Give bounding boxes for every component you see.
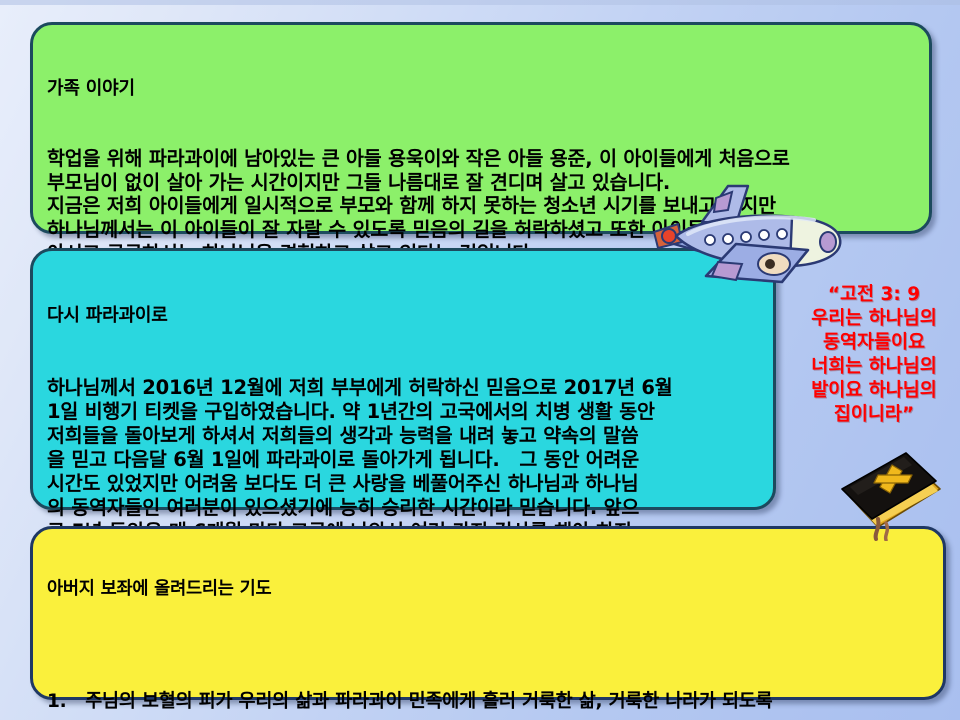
prayer-requests-list: 1. 주님의 보혈의 피가 우리의 삶과 파라과이 민족에게 흘러 거룩한 삶,… (47, 646, 933, 720)
family-story-title: 가족 이야기 (47, 78, 919, 100)
family-story-panel: 가족 이야기 학업을 위해 파라과이에 남아있는 큰 아들 용욱이와 작은 아들… (30, 22, 932, 234)
prayer-requests-title: 아버지 보좌에 올려드리는 기도 (47, 579, 933, 601)
list-item: 1. 주님의 보혈의 피가 우리의 삶과 파라과이 민족에게 흘러 거룩한 삶,… (47, 691, 933, 714)
slide-canvas: 가족 이야기 학업을 위해 파라과이에 남아있는 큰 아들 용욱이와 작은 아들… (0, 0, 960, 720)
prayer-requests-panel: 아버지 보좌에 올려드리는 기도 1. 주님의 보혈의 피가 우리의 삶과 파라… (30, 526, 946, 700)
return-to-paraguay-title: 다시 파라과이로 (47, 305, 763, 327)
scripture-verse: “고전 3: 9 우리는 하나님의 동역자들이요 너희는 하나님의 밭이요 하나… (786, 283, 960, 427)
return-to-paraguay-panel: 다시 파라과이로 하나님께서 2016년 12월에 저희 부부에게 허락하신 믿… (30, 248, 776, 510)
